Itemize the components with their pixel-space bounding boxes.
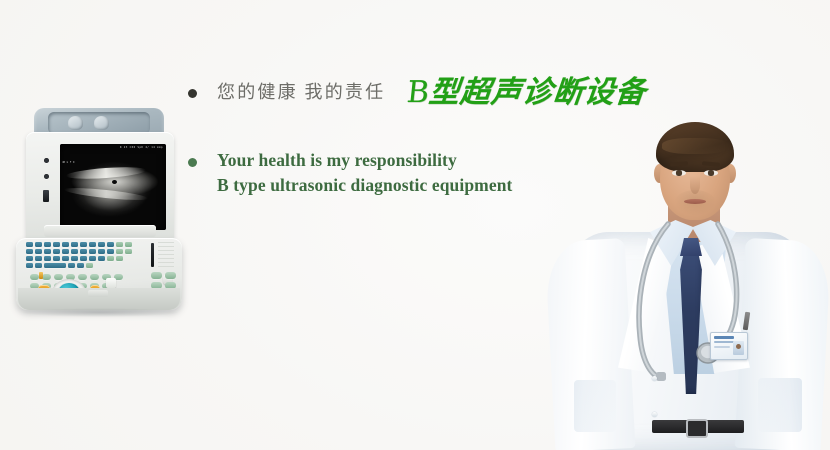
coat-button-2 xyxy=(652,412,657,417)
key xyxy=(107,242,114,247)
coat-pocket-left xyxy=(574,380,616,432)
key xyxy=(116,256,123,261)
key xyxy=(26,263,33,268)
lid-knob-1 xyxy=(44,158,49,163)
key xyxy=(89,242,96,247)
dark-bullet-icon xyxy=(188,89,197,98)
key xyxy=(35,249,42,254)
right-key xyxy=(165,272,176,279)
key xyxy=(80,242,87,247)
key xyxy=(68,263,75,268)
screen-overlay-text: R 23 C06 SpD 4/ 14 mmp xyxy=(120,146,163,150)
key xyxy=(116,249,123,254)
probe-recess xyxy=(48,112,150,134)
chinese-subtitle: 您的健康 我的责任 xyxy=(217,78,385,106)
badge-line-1 xyxy=(714,336,734,339)
key xyxy=(44,242,51,247)
key-row xyxy=(26,263,136,268)
tgc-slider xyxy=(151,243,154,267)
english-line-1: Your health is my responsibility xyxy=(217,148,513,173)
nose xyxy=(690,176,700,194)
function-key-row xyxy=(30,274,134,280)
machine-shadow xyxy=(22,308,178,317)
function-key xyxy=(42,274,51,280)
key xyxy=(98,249,105,254)
probe-1 xyxy=(68,116,83,130)
key xyxy=(125,242,132,247)
right-key xyxy=(151,272,162,279)
promo-banner: R 23 C06 SpD 4/ 14 mmp dB G F D xyxy=(0,0,830,450)
coat-button-1 xyxy=(652,376,657,381)
english-line-2: B type ultrasonic diagnostic equipment xyxy=(217,173,513,198)
key xyxy=(98,256,105,261)
key xyxy=(71,242,78,247)
key xyxy=(35,263,42,268)
key xyxy=(80,249,87,254)
function-key xyxy=(30,274,39,280)
right-key-row xyxy=(146,272,176,279)
key-row xyxy=(26,256,136,261)
key xyxy=(98,242,105,247)
chinese-headline-text: 型超声诊断设备 xyxy=(428,75,649,110)
key xyxy=(89,256,96,261)
front-latch xyxy=(88,290,108,297)
key-row xyxy=(26,249,136,254)
key xyxy=(71,249,78,254)
key xyxy=(89,249,96,254)
key xyxy=(125,249,132,254)
key xyxy=(26,249,33,254)
doctor-photo xyxy=(540,120,830,450)
coat-pocket-right xyxy=(758,378,802,432)
key xyxy=(44,249,51,254)
key-row xyxy=(26,242,136,247)
lid-control-column xyxy=(40,158,52,216)
key xyxy=(35,256,42,261)
function-key xyxy=(78,274,87,280)
white-button xyxy=(106,278,116,288)
ultrasound-screen: R 23 C06 SpD 4/ 14 mmp dB G F D xyxy=(60,144,166,230)
ultrasound-machine-image: R 23 C06 SpD 4/ 14 mmp dB G F D xyxy=(16,108,182,326)
key xyxy=(62,242,69,247)
key xyxy=(86,263,93,268)
alphanumeric-keypad xyxy=(26,242,136,272)
key xyxy=(62,249,69,254)
key xyxy=(35,242,42,247)
id-badge xyxy=(710,332,748,360)
key xyxy=(26,256,33,261)
lid-knob-2 xyxy=(44,174,49,179)
screen-side-text: dB G F D xyxy=(62,160,75,165)
tgc-slider-ticks xyxy=(158,242,174,268)
lid-bottom-bar xyxy=(44,225,156,237)
probe-2 xyxy=(94,116,109,130)
badge-photo xyxy=(733,341,744,355)
key xyxy=(62,256,69,261)
machine-display-lid: R 23 C06 SpD 4/ 14 mmp dB G F D xyxy=(26,132,174,244)
key xyxy=(116,242,123,247)
belt-buckle xyxy=(686,419,708,438)
key xyxy=(53,256,60,261)
spacebar-key xyxy=(44,263,66,268)
power-led xyxy=(39,272,43,279)
key xyxy=(53,249,60,254)
key xyxy=(71,256,78,261)
chinese-headline: B型超声诊断设备 xyxy=(406,78,648,108)
scan-marker-dot xyxy=(112,180,117,184)
key xyxy=(80,256,87,261)
key xyxy=(44,256,51,261)
key xyxy=(107,249,114,254)
ultrasound-scan-image xyxy=(68,154,158,220)
headline-row: 您的健康 我的责任 B型超声诊断设备 xyxy=(188,78,688,108)
eye-left xyxy=(672,170,686,176)
english-text-group: Your health is my responsibility B type … xyxy=(217,148,513,198)
hair xyxy=(656,122,734,172)
mouth xyxy=(684,199,706,204)
key xyxy=(107,256,114,261)
key xyxy=(53,242,60,247)
key xyxy=(77,263,84,268)
machine-keyboard-base xyxy=(16,238,182,310)
badge-line-3 xyxy=(714,346,730,348)
function-key xyxy=(90,274,99,280)
green-bullet-icon xyxy=(188,158,197,167)
lid-switch xyxy=(43,190,49,202)
key xyxy=(26,242,33,247)
eye-right xyxy=(704,170,718,176)
